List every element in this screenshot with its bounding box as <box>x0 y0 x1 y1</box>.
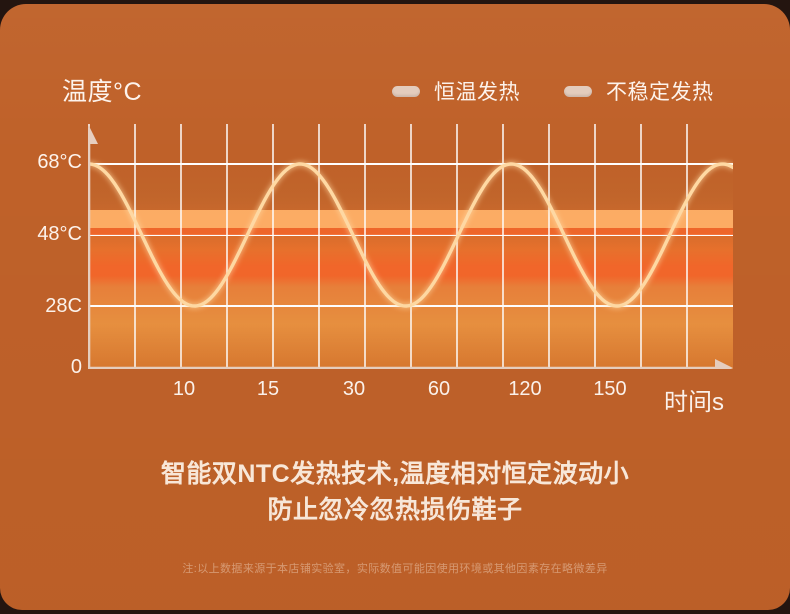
info-card: 温度°C 恒温发热 不稳定发热 68°C48°C28C0 <box>0 4 790 610</box>
y-tick-label: 68°C <box>37 151 82 174</box>
x-tick-label: 30 <box>343 378 365 401</box>
line-swatch-icon <box>392 86 420 97</box>
x-tick-label: 15 <box>257 378 279 401</box>
x-tick-label: 120 <box>508 378 541 401</box>
screenshot-root: 温度°C 恒温发热 不稳定发热 68°C48°C28C0 <box>0 0 790 614</box>
y-axis-ticks: 68°C48°C28C0 <box>0 124 82 372</box>
y-tick-label: 48°C <box>37 223 82 246</box>
y-tick-label: 0 <box>71 356 82 379</box>
legend-item-unstable: 不稳定发热 <box>564 76 714 106</box>
x-tick-label: 60 <box>428 378 450 401</box>
line-swatch-icon <box>564 86 592 97</box>
caption-block: 智能双NTC发热技术,温度相对恒定波动小 防止忽冷忽热损伤鞋子 <box>0 456 790 528</box>
caption-line-2: 防止忽冷忽热损伤鞋子 <box>0 492 790 528</box>
y-axis-arrow-icon <box>88 126 98 144</box>
footnote: 注:以上数据来源于本店铺实验室，实际数值可能因使用环境或其他因素存在略微差异 <box>0 560 790 576</box>
legend-label-stable: 恒温发热 <box>434 76 520 106</box>
y-tick-label: 28C <box>45 295 82 318</box>
x-axis-ticks: 10153060120150 <box>88 378 748 406</box>
caption-line-1: 智能双NTC发热技术,温度相对恒定波动小 <box>0 456 790 492</box>
legend-item-stable: 恒温发热 <box>392 76 520 106</box>
x-tick-label: 150 <box>593 378 626 401</box>
y-axis-title: 温度°C <box>62 72 142 108</box>
chart-plot-area <box>88 124 733 369</box>
temperature-chart <box>88 124 748 372</box>
legend-label-unstable: 不稳定发热 <box>606 76 714 106</box>
x-tick-label: 10 <box>173 378 195 401</box>
chart-legend: 恒温发热 不稳定发热 <box>392 76 714 106</box>
x-axis-title: 时间s <box>664 382 724 417</box>
